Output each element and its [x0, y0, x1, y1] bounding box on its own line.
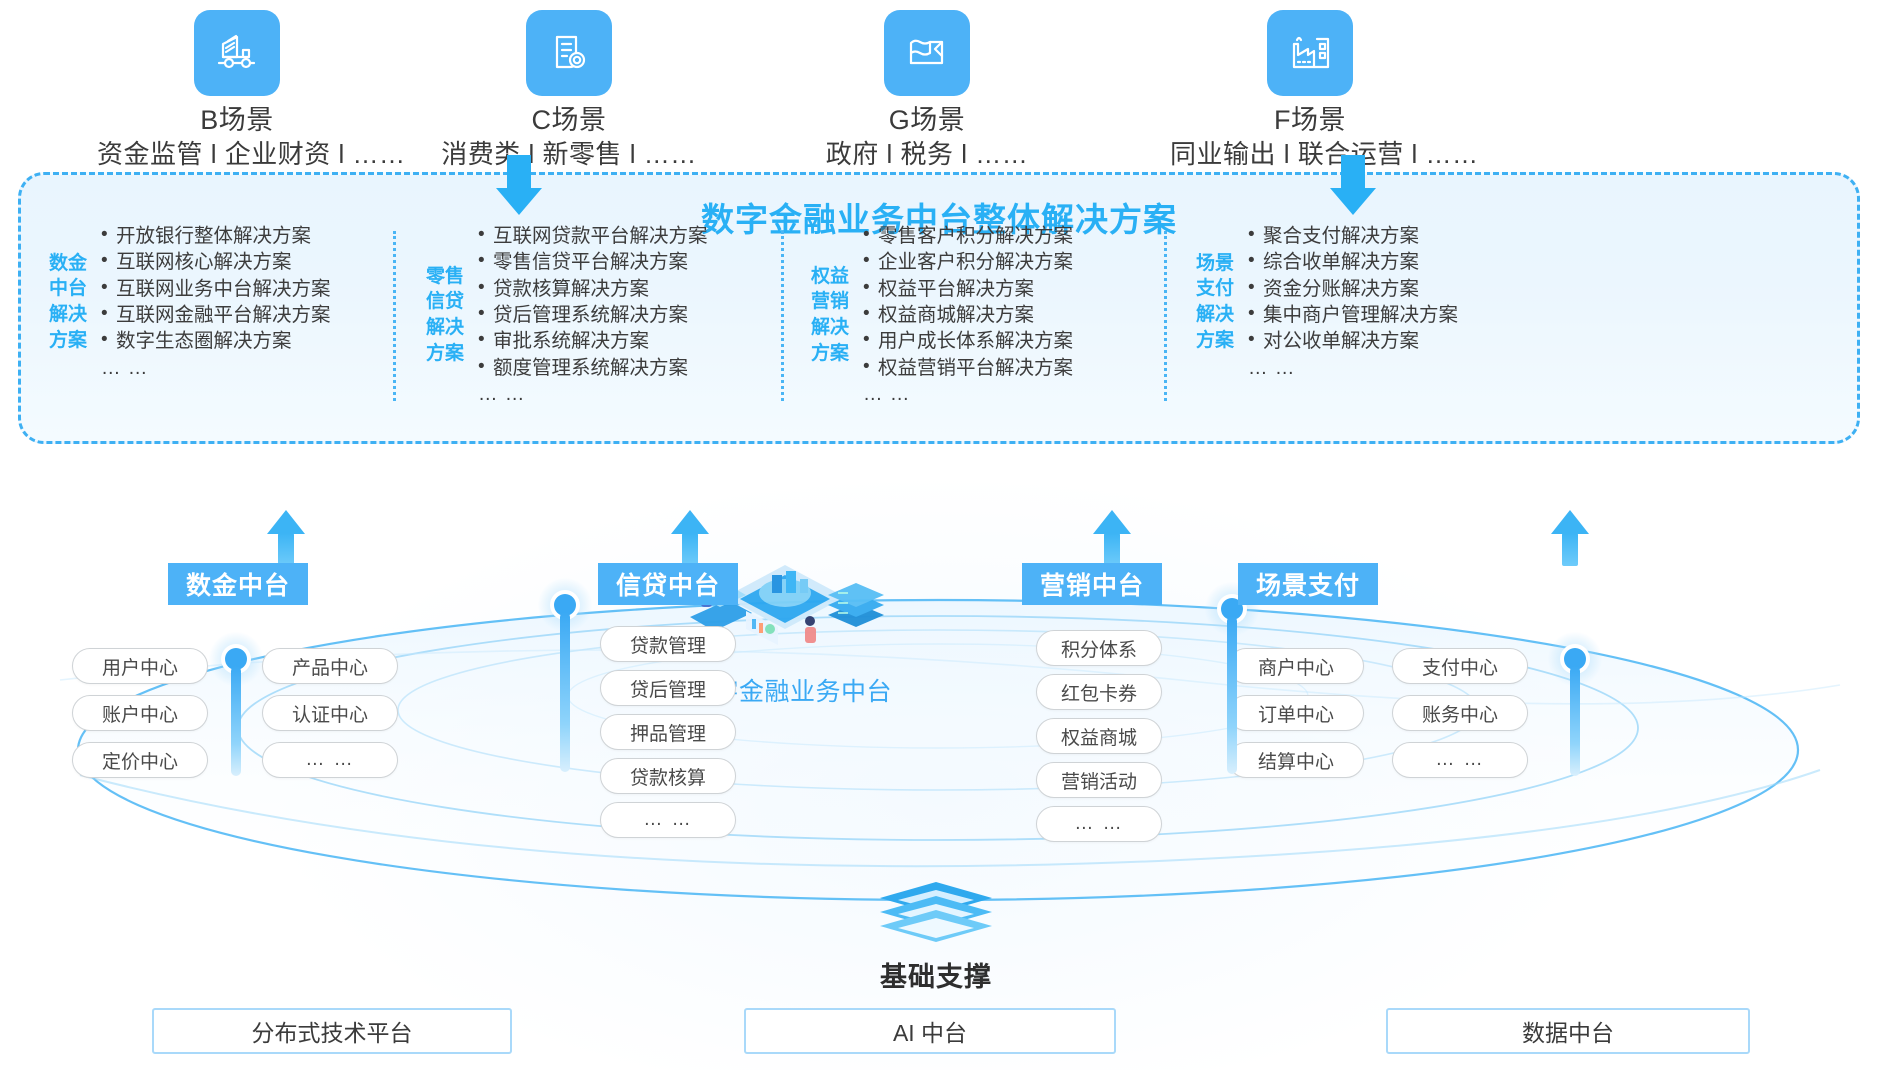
- scenario-title: G场景: [787, 104, 1067, 138]
- list-item: 用户成长体系解决方案: [863, 328, 1073, 354]
- list-item: 互联网贷款平台解决方案: [478, 223, 708, 249]
- chip-post-loan-management[interactable]: 贷后管理: [600, 670, 736, 706]
- chip-auth-center[interactable]: 认证中心: [262, 695, 398, 731]
- list-item: 零售客户积分解决方案: [863, 223, 1073, 249]
- solution-column-retail-credit: 零售 信贷 解决 方案 互联网贷款平台解决方案 零售信贷平台解决方案 贷款核算解…: [426, 223, 708, 407]
- foundation-box-data-platform[interactable]: 数据中台: [1386, 1008, 1750, 1054]
- column-label: 数金 中台 解决 方案: [49, 251, 91, 354]
- solution-list: 开放银行整体解决方案 互联网核心解决方案 互联网业务中台解决方案 互联网金融平台…: [101, 223, 331, 381]
- list-item: 互联网核心解决方案: [101, 249, 331, 275]
- list-item: 集中商户管理解决方案: [1248, 302, 1458, 328]
- up-arrow-digital-finance: [267, 510, 305, 566]
- chip-account-center[interactable]: 账户中心: [72, 695, 208, 731]
- list-item: 聚合支付解决方案: [1248, 223, 1458, 249]
- solution-column-scenario-payment: 场景 支付 解决 方案 聚合支付解决方案 综合收单解决方案 资金分账解决方案 集…: [1196, 223, 1458, 381]
- chip-loan-accounting[interactable]: 贷款核算: [600, 758, 736, 794]
- scenario-title: C场景: [429, 104, 709, 138]
- document-check-icon: [526, 10, 612, 96]
- down-arrow-g: [1330, 155, 1376, 215]
- scenario-subtitle: 消费类 l 新零售 l ……: [429, 138, 709, 171]
- chip-coupon-voucher[interactable]: 红包卡券: [1036, 674, 1162, 710]
- list-item: 贷款核算解决方案: [478, 276, 708, 302]
- list-item: 互联网金融平台解决方案: [101, 302, 331, 328]
- truck-chart-icon: [194, 10, 280, 96]
- list-item: 贷后管理系统解决方案: [478, 302, 708, 328]
- list-ellipsis: … …: [478, 381, 708, 407]
- chip-order-center[interactable]: 订单中心: [1228, 695, 1364, 731]
- chip-marketing-campaign[interactable]: 营销活动: [1036, 762, 1162, 798]
- layer-stack-icon: [866, 880, 1006, 948]
- solution-column-rights-marketing: 权益 营销 解决 方案 零售客户积分解决方案 企业客户积分解决方案 权益平台解决…: [811, 223, 1073, 407]
- column-label: 权益 营销 解决 方案: [811, 264, 853, 367]
- foundation-title: 基础支撑: [806, 955, 1066, 994]
- platform-header-marketing[interactable]: 营销中台: [1022, 563, 1162, 605]
- down-arrow-b: [496, 155, 542, 215]
- column-divider: [781, 231, 784, 401]
- list-item: 企业客户积分解决方案: [863, 249, 1073, 275]
- map-flag-icon: [884, 10, 970, 96]
- list-ellipsis: … …: [101, 355, 331, 381]
- up-arrow-marketing: [1093, 510, 1131, 566]
- platform-header-scenario-payment[interactable]: 场景支付: [1238, 563, 1378, 605]
- list-item: 开放银行整体解决方案: [101, 223, 331, 249]
- chip-pricing-center[interactable]: 定价中心: [72, 742, 208, 778]
- column-label: 场景 支付 解决 方案: [1196, 251, 1238, 354]
- scenario-card-g[interactable]: G场景 政府 l 税务 l ……: [787, 10, 1067, 170]
- scenario-card-f[interactable]: F场景 同业输出 l 联合运营 l ……: [1170, 10, 1450, 170]
- list-item: 审批系统解决方案: [478, 328, 708, 354]
- list-ellipsis: … …: [1248, 355, 1458, 381]
- foundation-box-distributed-platform[interactable]: 分布式技术平台: [152, 1008, 512, 1054]
- list-item: 权益营销平台解决方案: [863, 355, 1073, 381]
- chip-merchant-center[interactable]: 商户中心: [1228, 648, 1364, 684]
- chip-more-digital-finance[interactable]: … …: [262, 742, 398, 778]
- scenario-title: F场景: [1170, 104, 1450, 138]
- list-item: 互联网业务中台解决方案: [101, 276, 331, 302]
- list-item: 权益平台解决方案: [863, 276, 1073, 302]
- chip-points-system[interactable]: 积分体系: [1036, 630, 1162, 666]
- platform-header-credit[interactable]: 信贷中台: [598, 563, 738, 605]
- factory-icon: [1267, 10, 1353, 96]
- list-item: 额度管理系统解决方案: [478, 355, 708, 381]
- scenario-title: B场景: [97, 104, 377, 138]
- scenario-subtitle: 政府 l 税务 l ……: [787, 138, 1067, 171]
- chip-rights-mall[interactable]: 权益商城: [1036, 718, 1162, 754]
- scenario-subtitle: 同业输出 l 联合运营 l ……: [1170, 138, 1450, 171]
- solution-panel: 数字金融业务中台整体解决方案 数金 中台 解决 方案 开放银行整体解决方案 互联…: [18, 172, 1860, 444]
- scenario-card-b[interactable]: B场景 资金监管 l 企业财资 l ……: [97, 10, 377, 170]
- list-ellipsis: … …: [863, 381, 1073, 407]
- up-arrow-credit: [671, 510, 709, 566]
- list-item: 权益商城解决方案: [863, 302, 1073, 328]
- chip-product-center[interactable]: 产品中心: [262, 648, 398, 684]
- platform-header-digital-finance[interactable]: 数金中台: [168, 563, 308, 605]
- list-item: 对公收单解决方案: [1248, 328, 1458, 354]
- chip-accounting-center[interactable]: 账务中心: [1392, 695, 1528, 731]
- scenario-subtitle: 资金监管 l 企业财资 l ……: [97, 138, 377, 171]
- list-item: 综合收单解决方案: [1248, 249, 1458, 275]
- list-item: 资金分账解决方案: [1248, 276, 1458, 302]
- chip-more-credit[interactable]: … …: [600, 802, 736, 838]
- chip-loan-management[interactable]: 贷款管理: [600, 626, 736, 662]
- chip-payment-center[interactable]: 支付中心: [1392, 648, 1528, 684]
- digital-finance-midplatform-diagram: B场景 资金监管 l 企业财资 l …… C场景 消费类 l 新零售 l …… …: [0, 0, 1877, 1070]
- column-divider: [1164, 231, 1167, 401]
- chip-more-marketing[interactable]: … …: [1036, 806, 1162, 842]
- column-divider: [393, 231, 396, 401]
- scenario-card-c[interactable]: C场景 消费类 l 新零售 l ……: [429, 10, 709, 170]
- foundation-box-ai-platform[interactable]: AI 中台: [744, 1008, 1116, 1054]
- chip-settlement-center[interactable]: 结算中心: [1228, 742, 1364, 778]
- list-item: 数字生态圈解决方案: [101, 328, 331, 354]
- chip-more-payment[interactable]: … …: [1392, 742, 1528, 778]
- solution-list: 零售客户积分解决方案 企业客户积分解决方案 权益平台解决方案 权益商城解决方案 …: [863, 223, 1073, 407]
- up-arrow-payment: [1551, 510, 1589, 566]
- solution-list: 聚合支付解决方案 综合收单解决方案 资金分账解决方案 集中商户管理解决方案 对公…: [1248, 223, 1458, 381]
- solution-list: 互联网贷款平台解决方案 零售信贷平台解决方案 贷款核算解决方案 贷后管理系统解决…: [478, 223, 708, 407]
- chip-collateral-management[interactable]: 押品管理: [600, 714, 736, 750]
- list-item: 零售信贷平台解决方案: [478, 249, 708, 275]
- chip-user-center[interactable]: 用户中心: [72, 648, 208, 684]
- solution-column-digital-finance: 数金 中台 解决 方案 开放银行整体解决方案 互联网核心解决方案 互联网业务中台…: [49, 223, 331, 381]
- column-label: 零售 信贷 解决 方案: [426, 264, 468, 367]
